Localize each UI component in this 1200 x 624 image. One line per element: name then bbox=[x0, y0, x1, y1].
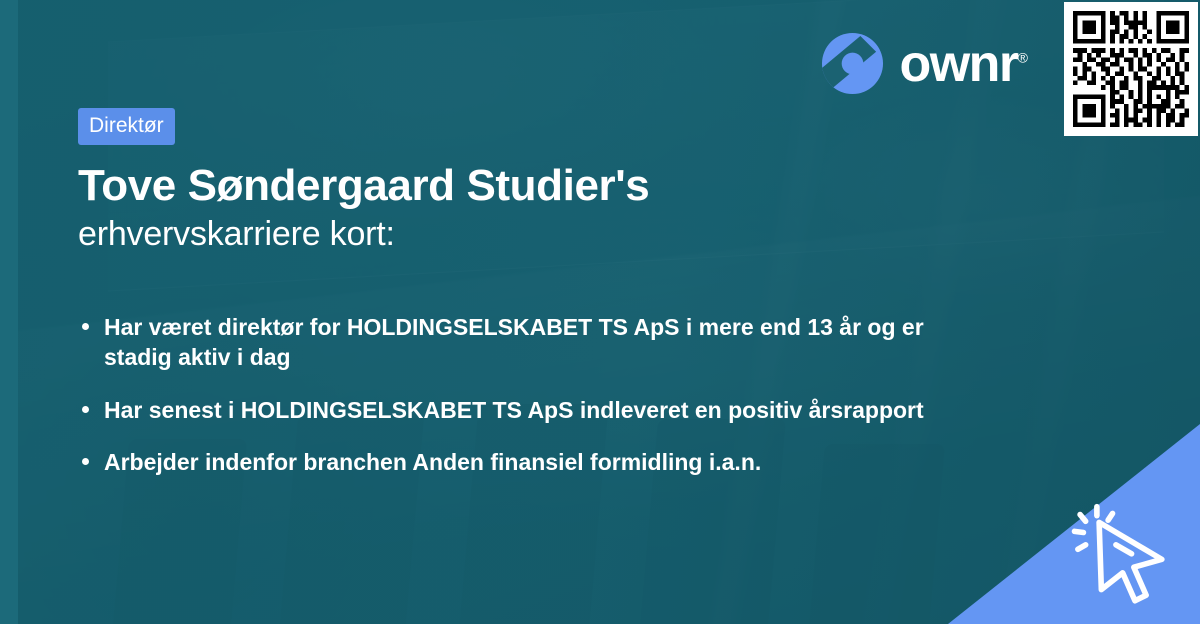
list-item: Har været direktør for HOLDINGSELSKABET … bbox=[78, 312, 978, 373]
ownr-company-card-banner: ownr® Direktør Tove Søndergaard Studier'… bbox=[0, 0, 1200, 624]
headline-block: Direktør Tove Søndergaard Studier's erhv… bbox=[78, 108, 1028, 255]
list-item-text: Har været direktør for HOLDINGSELSKABET … bbox=[104, 314, 924, 370]
ownr-circle-swoosh-icon bbox=[821, 32, 884, 95]
registered-mark: ® bbox=[1018, 49, 1028, 65]
list-item: Arbejder indenfor branchen Anden finansi… bbox=[78, 447, 978, 477]
qr-code-icon[interactable] bbox=[1073, 11, 1189, 127]
bullet-dot-icon bbox=[82, 406, 89, 413]
logo-word-text: ownr bbox=[899, 35, 1017, 93]
qr-code-container[interactable] bbox=[1064, 2, 1198, 136]
left-accent-stripe bbox=[0, 0, 18, 624]
list-item-text: Har senest i HOLDINGSELSKABET TS ApS ind… bbox=[104, 397, 924, 423]
list-item: Har senest i HOLDINGSELSKABET TS ApS ind… bbox=[78, 395, 978, 425]
bullet-dot-icon bbox=[82, 458, 89, 465]
career-highlights-list: Har været direktør for HOLDINGSELSKABET … bbox=[78, 312, 978, 477]
list-item-text: Arbejder indenfor branchen Anden finansi… bbox=[104, 449, 761, 475]
bullet-dot-icon bbox=[82, 323, 89, 330]
page-title: Tove Søndergaard Studier's bbox=[78, 161, 1028, 210]
ownr-wordmark: ownr® bbox=[899, 38, 1028, 90]
page-subtitle: erhvervskarriere kort: bbox=[78, 214, 1028, 255]
click-cursor-icon bbox=[1070, 500, 1182, 612]
role-badge: Direktør bbox=[78, 108, 175, 145]
ownr-logo[interactable]: ownr® bbox=[821, 32, 1028, 95]
